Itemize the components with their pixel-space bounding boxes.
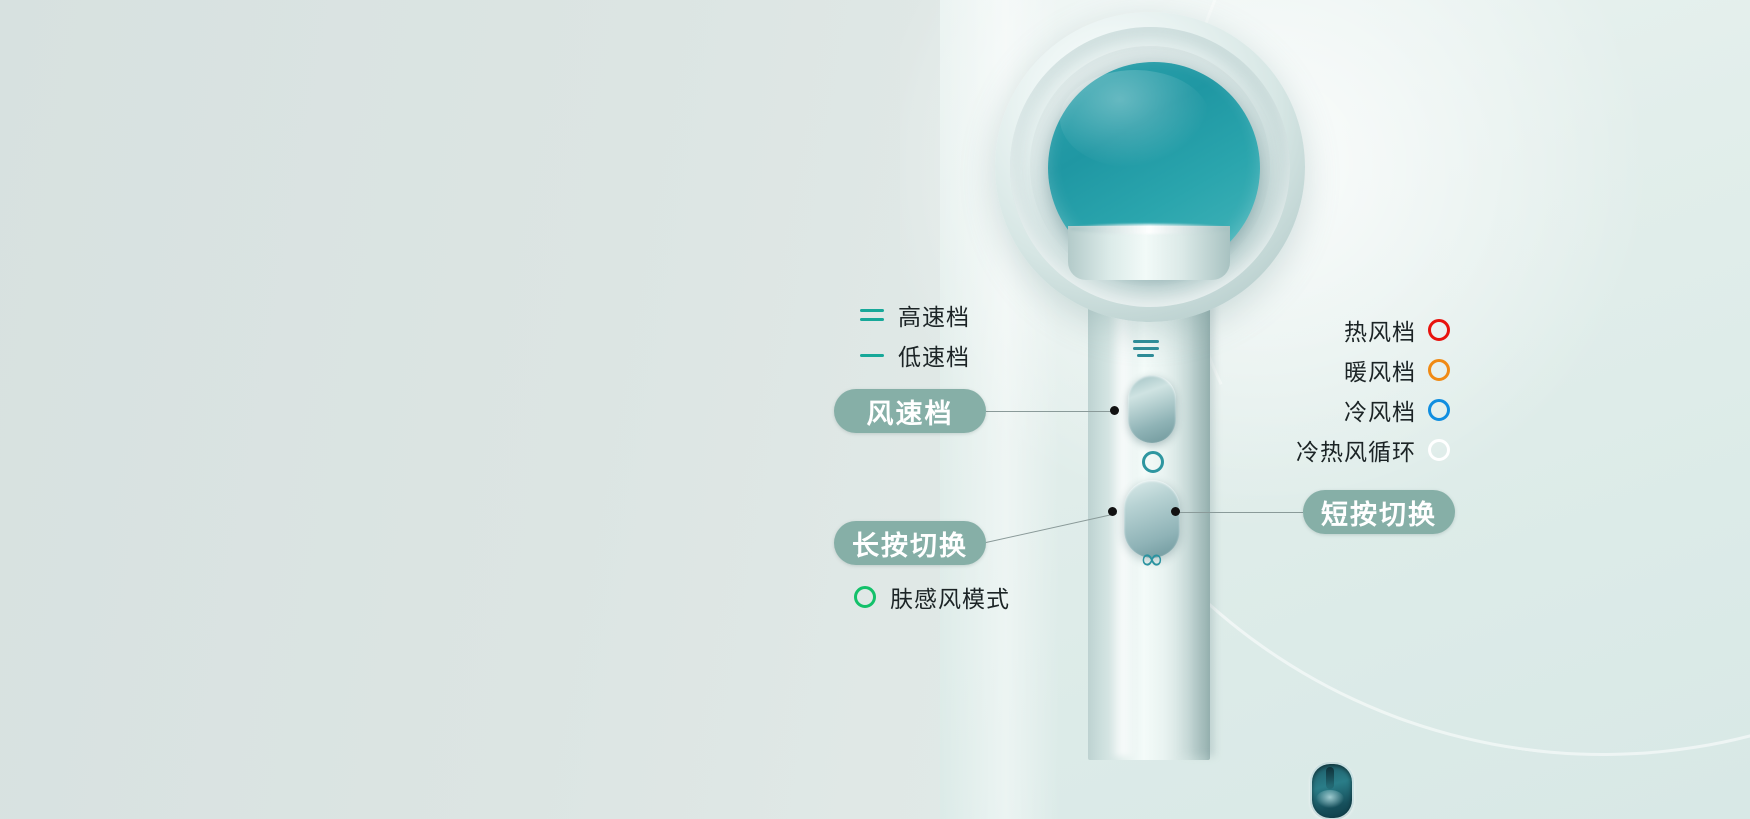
status-ring-icon-red: [1428, 319, 1450, 341]
speed-button-notch: [1326, 767, 1334, 789]
legend-label: 低速档: [898, 338, 970, 372]
legend-item-cool-air: 冷风档: [1240, 390, 1450, 430]
status-ring-icon-orange: [1428, 359, 1450, 381]
callout-pill-wind-speed[interactable]: 风速档: [834, 389, 986, 433]
speed-level-bars-icon: [1133, 340, 1161, 362]
legend-item-warm-air: 暖风档: [1240, 350, 1450, 390]
single-dash-icon: [860, 354, 884, 357]
callout-anchor-dot-speed: [1110, 406, 1119, 415]
infographic-canvas: ∞ 高速档 低速档 热风档 暖风档 冷风档 冷热风循环: [0, 0, 1750, 819]
dryer-neck-edge: [1070, 224, 1228, 234]
status-ring-icon-white: [1428, 439, 1450, 461]
callout-anchor-dot-short-press: [1171, 507, 1180, 516]
legend-label: 冷热风循环: [1296, 433, 1416, 467]
speed-button[interactable]: [1128, 375, 1176, 443]
speed-legend: 高速档 低速档: [860, 295, 970, 375]
callout-pill-long-press[interactable]: 长按切换: [834, 521, 986, 565]
callout-leader-line-short-press: [1175, 512, 1303, 513]
legend-item-hot-air: 热风档: [1240, 310, 1450, 350]
legend-item-high-speed: 高速档: [860, 295, 970, 335]
callout-leader-line-speed: [986, 411, 1114, 412]
legend-label: 暖风档: [1344, 353, 1416, 387]
status-ring-icon-blue: [1428, 399, 1450, 421]
legend-label: 肤感风模式: [890, 580, 1010, 614]
callout-anchor-dot-long-press: [1108, 507, 1117, 516]
legend-label: 冷风档: [1344, 393, 1416, 427]
callout-pill-short-press[interactable]: 短按切换: [1303, 490, 1455, 534]
dryer-neck: [1068, 226, 1230, 280]
double-dash-icon: [860, 309, 884, 321]
skin-mode-legend: 肤感风模式: [854, 580, 1010, 614]
infinity-icon: ∞: [1130, 545, 1174, 575]
dryer-nozzle-gloss: [1060, 70, 1210, 168]
legend-label: 热风档: [1344, 313, 1416, 347]
legend-item-low-speed: 低速档: [860, 335, 970, 375]
status-ring-indicator: [1142, 451, 1164, 473]
legend-label: 高速档: [898, 298, 970, 332]
speed-button-gloss: [1316, 790, 1344, 808]
heat-mode-legend: 热风档 暖风档 冷风档 冷热风循环: [1240, 310, 1450, 470]
legend-item-hot-cool-cycle: 冷热风循环: [1240, 430, 1450, 470]
status-ring-icon-green: [854, 586, 876, 608]
